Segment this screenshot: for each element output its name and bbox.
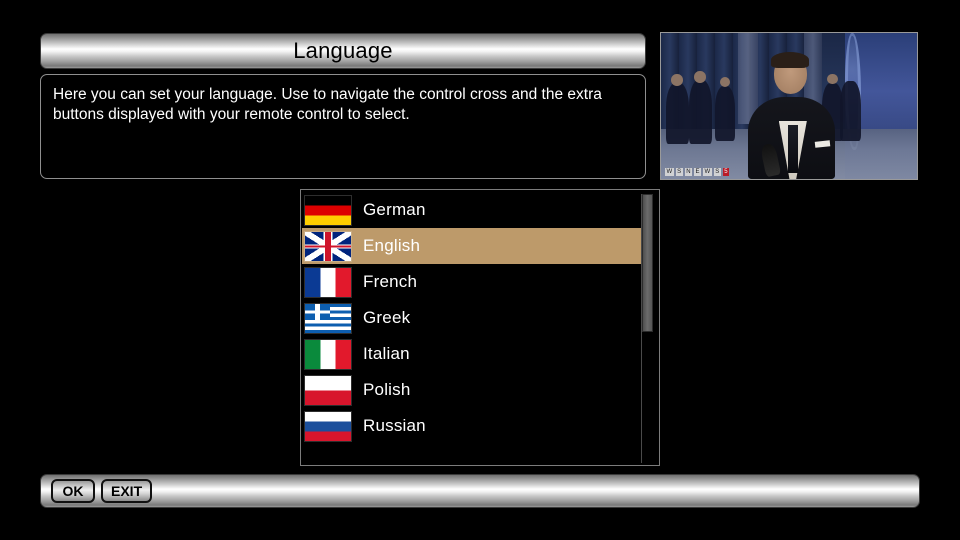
video-crowd-figure xyxy=(666,83,689,144)
video-crowd-head xyxy=(671,74,683,86)
video-crowd-figure xyxy=(715,86,735,141)
language-label: German xyxy=(363,200,426,220)
scrollbar-track[interactable] xyxy=(641,194,652,463)
flag-italy-icon xyxy=(305,340,351,369)
video-crowd-head xyxy=(720,77,730,87)
language-label: Italian xyxy=(363,344,410,364)
tv-settings-screen: Language Here you can set your language.… xyxy=(0,0,960,540)
list-item[interactable]: Polish xyxy=(302,372,644,408)
video-crowd-figure xyxy=(689,80,712,144)
list-item[interactable]: French xyxy=(302,264,644,300)
flag-united-kingdom-icon xyxy=(305,232,351,261)
channel-logo-bug: W S N E W S 5 xyxy=(665,168,729,176)
channel-bug-cell: S xyxy=(676,168,683,176)
language-list: German English French Greek Italian xyxy=(302,192,644,444)
language-label: Polish xyxy=(363,380,411,400)
flag-poland-icon xyxy=(305,376,351,405)
video-preview[interactable]: W S N E W S 5 xyxy=(660,32,918,180)
page-title-bar: Language xyxy=(40,33,646,69)
language-label: Russian xyxy=(363,416,426,436)
video-crowd-figure xyxy=(840,81,860,141)
ok-button[interactable]: OK xyxy=(51,479,95,503)
list-item[interactable]: German xyxy=(302,192,644,228)
flag-greece-icon xyxy=(305,304,351,333)
flag-union-diagonals xyxy=(305,232,351,261)
channel-bug-cell: W xyxy=(665,168,674,176)
flag-germany-icon xyxy=(305,196,351,225)
description-text: Here you can set your language. Use to n… xyxy=(53,85,633,125)
channel-bug-cell: S xyxy=(714,168,721,176)
channel-bug-number: 5 xyxy=(723,168,729,176)
list-item[interactable]: Greek xyxy=(302,300,644,336)
description-box: Here you can set your language. Use to n… xyxy=(40,74,646,179)
exit-button[interactable]: EXIT xyxy=(101,479,152,503)
video-reporter-hair xyxy=(771,52,809,68)
video-crowd-head xyxy=(827,74,837,84)
channel-bug-cell: N xyxy=(685,168,692,176)
flag-france-icon xyxy=(305,268,351,297)
language-label: English xyxy=(363,236,420,256)
language-list-panel: German English French Greek Italian xyxy=(300,189,660,466)
list-item[interactable]: Italian xyxy=(302,336,644,372)
language-label: French xyxy=(363,272,417,292)
footer-bar: OK EXIT xyxy=(40,474,920,508)
page-title: Language xyxy=(293,38,392,64)
scrollbar-thumb[interactable] xyxy=(642,194,653,332)
language-label: Greek xyxy=(363,308,410,328)
list-item[interactable]: English xyxy=(302,228,644,264)
flag-russia-icon xyxy=(305,412,351,441)
list-item[interactable]: Russian xyxy=(302,408,644,444)
channel-bug-cell: E xyxy=(694,168,701,176)
video-reporter-tie xyxy=(788,125,799,173)
channel-bug-cell: W xyxy=(703,168,712,176)
video-crowd-head xyxy=(694,71,706,83)
